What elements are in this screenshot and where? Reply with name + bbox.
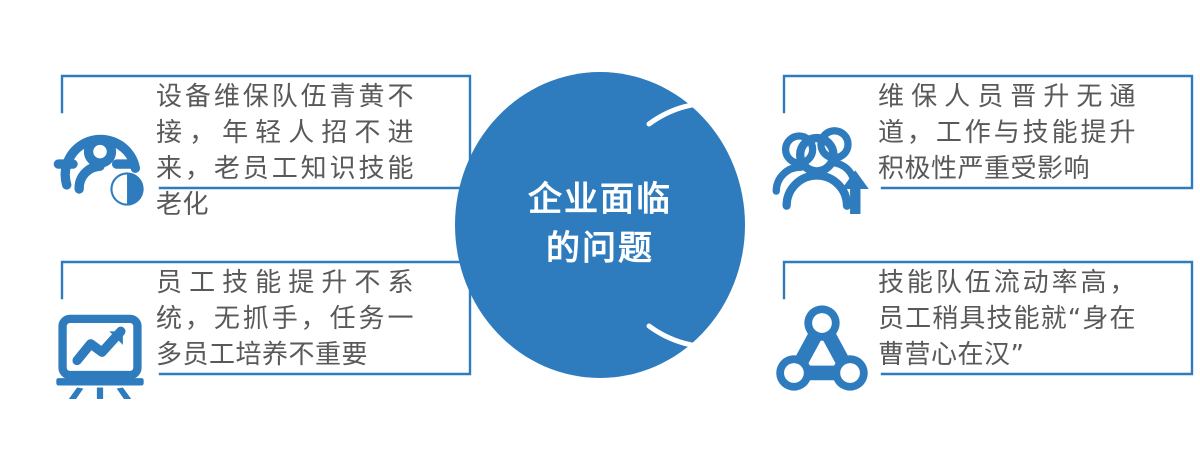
center-node: 企业面临 的问题	[455, 72, 745, 378]
network-nodes-icon	[770, 296, 874, 400]
problem-card-top-left: 设备维保队伍青黄不接，年轻人招不进来，老员工知识技能老化	[56, 66, 476, 198]
problem-card-bottom-right: 技能队伍流动率高，员工稍具技能就“身在曹营心在汉”	[778, 252, 1198, 384]
presentation-chart-icon	[48, 296, 152, 400]
problem-text: 维保人员晋升无通道，工作与技能提升积极性严重受影响	[878, 80, 1136, 188]
problems-infographic: 企业面临 的问题 设备维保队伍青黄不接，年轻人招不进来，老员工知识技能老化	[0, 0, 1200, 450]
problem-text: 员工技能提升不系统，无抓手，任务一多员工培养不重要	[156, 266, 414, 374]
problem-text: 设备维保队伍青黄不接，年轻人招不进来，老员工知识技能老化	[156, 80, 414, 224]
person-progress-icon	[48, 110, 152, 214]
problem-text: 技能队伍流动率高，员工稍具技能就“身在曹营心在汉”	[878, 266, 1136, 374]
problem-card-top-right: 维保人员晋升无通道，工作与技能提升积极性严重受影响	[778, 66, 1198, 198]
center-title: 企业面临 的问题	[455, 176, 745, 275]
problem-card-bottom-left: 员工技能提升不系统，无抓手，任务一多员工培养不重要	[56, 252, 476, 384]
people-growth-icon	[770, 110, 874, 214]
